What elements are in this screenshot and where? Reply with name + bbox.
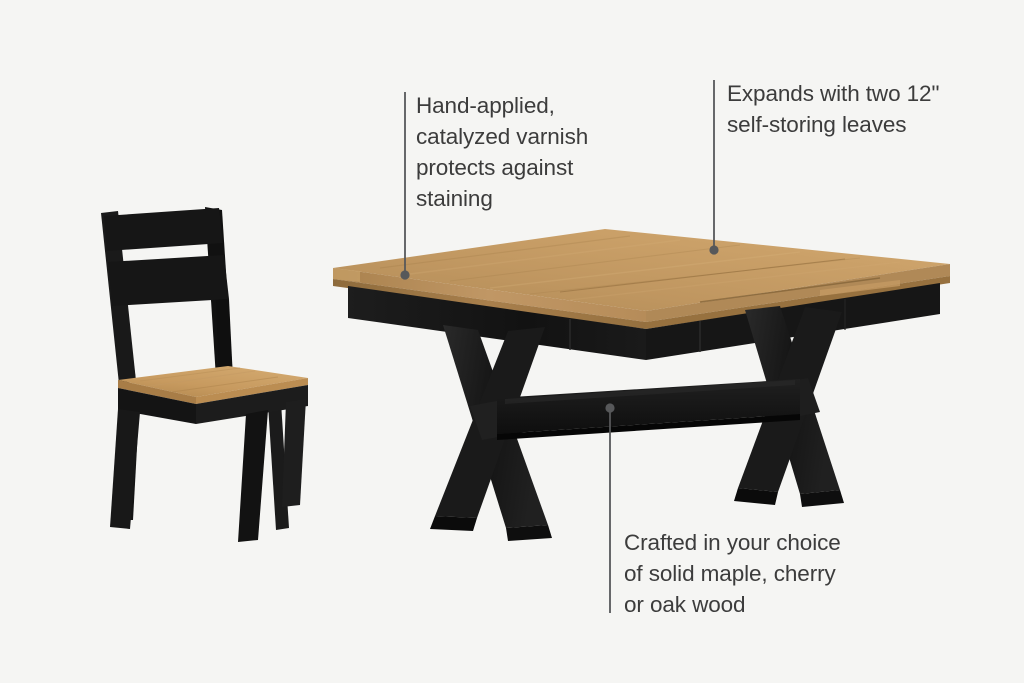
table-stretcher	[497, 379, 800, 440]
dining-chair	[101, 207, 308, 542]
callout-text-leaves: Expands with two 12" self-storing leaves	[727, 78, 987, 140]
leader-dot-varnish	[400, 270, 409, 279]
leader-dot-leaves	[709, 245, 718, 254]
callout-text-wood: Crafted in your choice of solid maple, c…	[624, 527, 894, 620]
leader-dot-wood	[605, 403, 614, 412]
dining-table	[333, 229, 950, 541]
callout-text-varnish: Hand-applied, catalyzed varnish protects…	[416, 90, 656, 214]
infographic-canvas: Hand-applied, catalyzed varnish protects…	[0, 0, 1024, 683]
